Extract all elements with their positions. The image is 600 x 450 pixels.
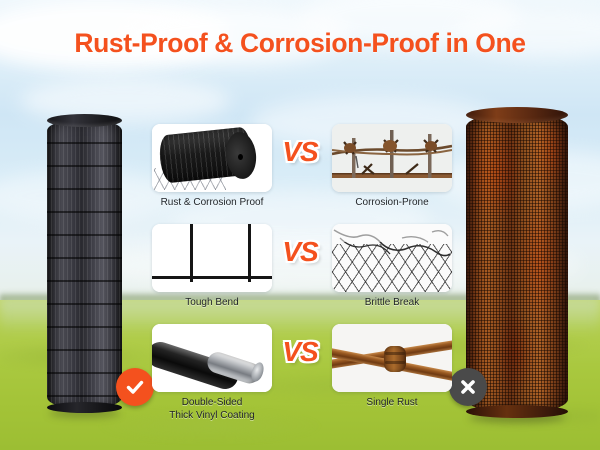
product-roll-right [466,113,568,413]
roll-body [466,113,568,413]
comparison-row: Rust & Corrosion Proof VS [140,124,460,210]
rusty-barbed-fence-icon [332,124,452,192]
black-vinyl-coil-icon [152,124,272,192]
comparison-cell-left: Rust & Corrosion Proof [152,124,272,210]
comparison-table: Rust & Corrosion Proof VS [140,124,460,410]
feature-caption: Brittle Break [332,297,452,310]
feature-card [152,224,272,292]
comparison-cell-right: Brittle Break [332,224,452,310]
product-roll-left [47,119,122,409]
vs-label: VS [274,236,326,268]
feature-caption: Tough Bend [152,297,272,310]
comparison-row: Tough Bend VS Br [140,224,460,310]
feature-caption: Rust & Corrosion Proof [152,197,272,210]
comparison-cell-left: Double-Sided Thick Vinyl Coating [152,324,272,422]
feature-card [332,324,452,392]
feature-card [152,324,272,392]
comparison-cell-right: Corrosion-Prone [332,124,452,210]
vinyl-coated-wire-icon [152,324,272,392]
feature-caption-line1: Double-Sided [152,397,272,410]
feature-caption: Double-Sided Thick Vinyl Coating [152,397,272,422]
comparison-cell-right: Single Rust [332,324,452,410]
roll-body [47,119,122,409]
x-icon [458,377,478,397]
feature-caption: Corrosion-Prone [332,197,452,210]
feature-card [332,124,452,192]
comparison-cell-left: Tough Bend [152,224,272,310]
vs-label: VS [274,336,326,368]
wire-grid-icon [152,224,272,292]
roll-bottom-cap [466,405,568,418]
feature-caption-line2: Thick Vinyl Coating [152,410,272,423]
page-title: Rust-Proof & Corrosion-Proof in One [0,28,600,59]
roll-top-cap [466,107,568,123]
roll-rust-patina [466,113,568,413]
roll-top-cap [47,114,122,127]
broken-chainlink-icon [332,224,452,292]
vs-label: VS [274,136,326,168]
feature-card [152,124,272,192]
feature-card [332,224,452,292]
feature-caption: Single Rust [332,397,452,410]
roll-bottom-cap [47,402,122,413]
comparison-row: Double-Sided Thick Vinyl Coating VS Sing… [140,324,460,410]
rusty-crossed-wire-icon [332,324,452,392]
infographic-stage: Rust-Proof & Corrosion-Proof in One [0,0,600,450]
